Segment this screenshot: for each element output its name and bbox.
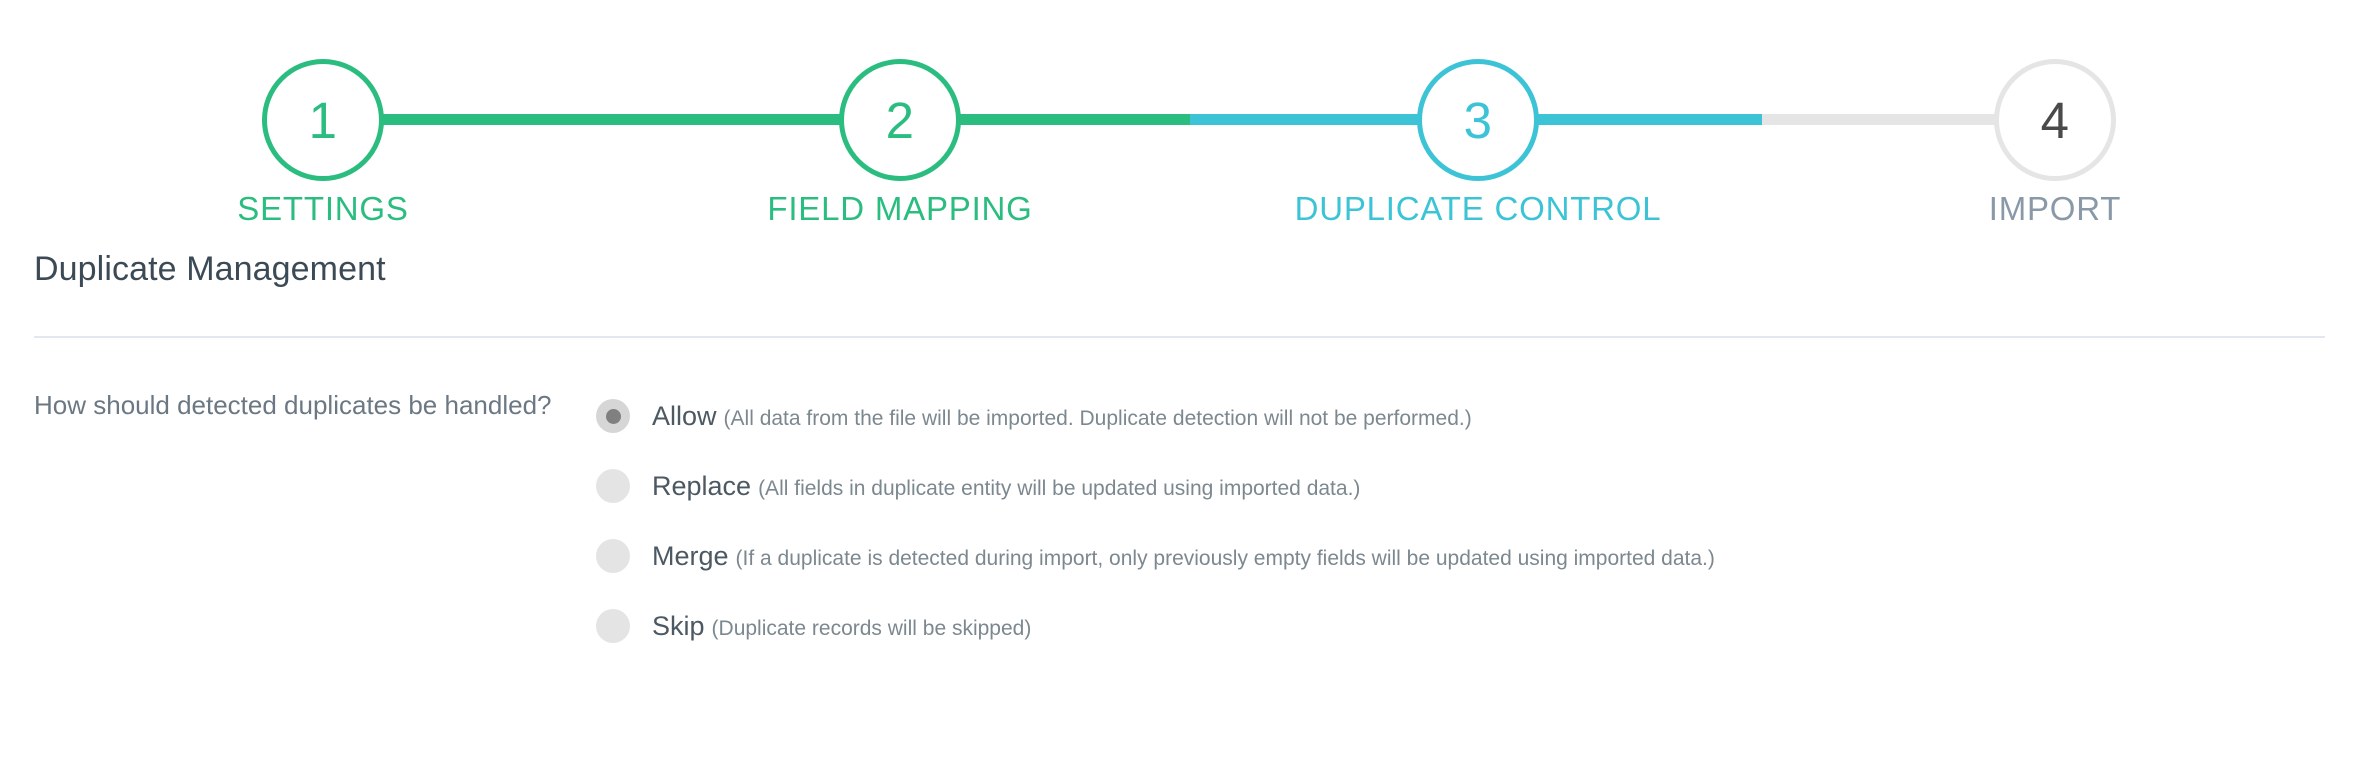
stepper-step-settings[interactable]: 1: [262, 59, 384, 181]
stepper-step-duplicate-control[interactable]: 3: [1417, 59, 1539, 181]
section-divider: [34, 336, 2325, 338]
radio-option-replace-name: Replace: [652, 471, 751, 501]
connector-step2-step3-green: [955, 114, 1190, 125]
radio-option-merge[interactable]: Merge(If a duplicate is detected during …: [596, 521, 2327, 591]
duplicate-handling-radio-group[interactable]: Allow(All data from the file will be imp…: [596, 381, 2327, 661]
radio-option-skip-name: Skip: [652, 611, 705, 641]
radio-indicator-merge[interactable]: [596, 539, 630, 573]
duplicate-management-panel: Duplicate Management How should detected…: [0, 245, 2361, 661]
radio-option-merge-name: Merge: [652, 541, 729, 571]
stepper-label-field-mapping[interactable]: FIELD MAPPING: [600, 190, 1200, 228]
stepper-label-import[interactable]: IMPORT: [1755, 190, 2355, 228]
radio-option-skip[interactable]: Skip(Duplicate records will be skipped): [596, 591, 2327, 661]
duplicate-handling-label: How should detected duplicates be handle…: [34, 381, 596, 425]
stepper-label-settings[interactable]: SETTINGS: [23, 190, 623, 228]
stepper-step-number: 4: [2041, 95, 2070, 146]
stepper-step-field-mapping[interactable]: 2: [839, 59, 961, 181]
radio-option-allow[interactable]: Allow(All data from the file will be imp…: [596, 381, 2327, 451]
radio-indicator-skip[interactable]: [596, 609, 630, 643]
stepper-step-number: 3: [1464, 95, 1493, 146]
connector-step3-step4-gray: [1762, 114, 2000, 125]
connector-step1-step2: [378, 114, 845, 125]
radio-option-skip-text: Skip(Duplicate records will be skipped): [652, 611, 1031, 642]
radio-option-merge-description: (If a duplicate is detected during impor…: [736, 547, 1715, 570]
radio-option-allow-description: (All data from the file will be imported…: [724, 407, 1472, 430]
connector-step3-step4-blue: [1533, 114, 1762, 125]
page-title: Duplicate Management: [34, 245, 2327, 289]
connector-step2-step3-blue: [1190, 114, 1423, 125]
import-wizard-stepper: 1 SETTINGS 2 FIELD MAPPING 3 DUPLICATE C…: [0, 0, 2361, 245]
radio-option-allow-text: Allow(All data from the file will be imp…: [652, 401, 1472, 432]
stepper-step-number: 2: [886, 95, 915, 146]
stepper-step-import[interactable]: 4: [1994, 59, 2116, 181]
radio-indicator-allow[interactable]: [596, 399, 630, 433]
duplicate-handling-field: How should detected duplicates be handle…: [34, 381, 2327, 661]
radio-option-allow-name: Allow: [652, 401, 717, 431]
radio-option-replace-description: (All fields in duplicate entity will be …: [758, 477, 1360, 500]
stepper-label-duplicate-control[interactable]: DUPLICATE CONTROL: [1178, 190, 1778, 228]
radio-option-skip-description: (Duplicate records will be skipped): [712, 617, 1032, 640]
radio-option-merge-text: Merge(If a duplicate is detected during …: [652, 541, 1715, 572]
radio-indicator-replace[interactable]: [596, 469, 630, 503]
radio-option-replace-text: Replace(All fields in duplicate entity w…: [652, 471, 1360, 502]
stepper-step-number: 1: [309, 95, 338, 146]
radio-option-replace[interactable]: Replace(All fields in duplicate entity w…: [596, 451, 2327, 521]
